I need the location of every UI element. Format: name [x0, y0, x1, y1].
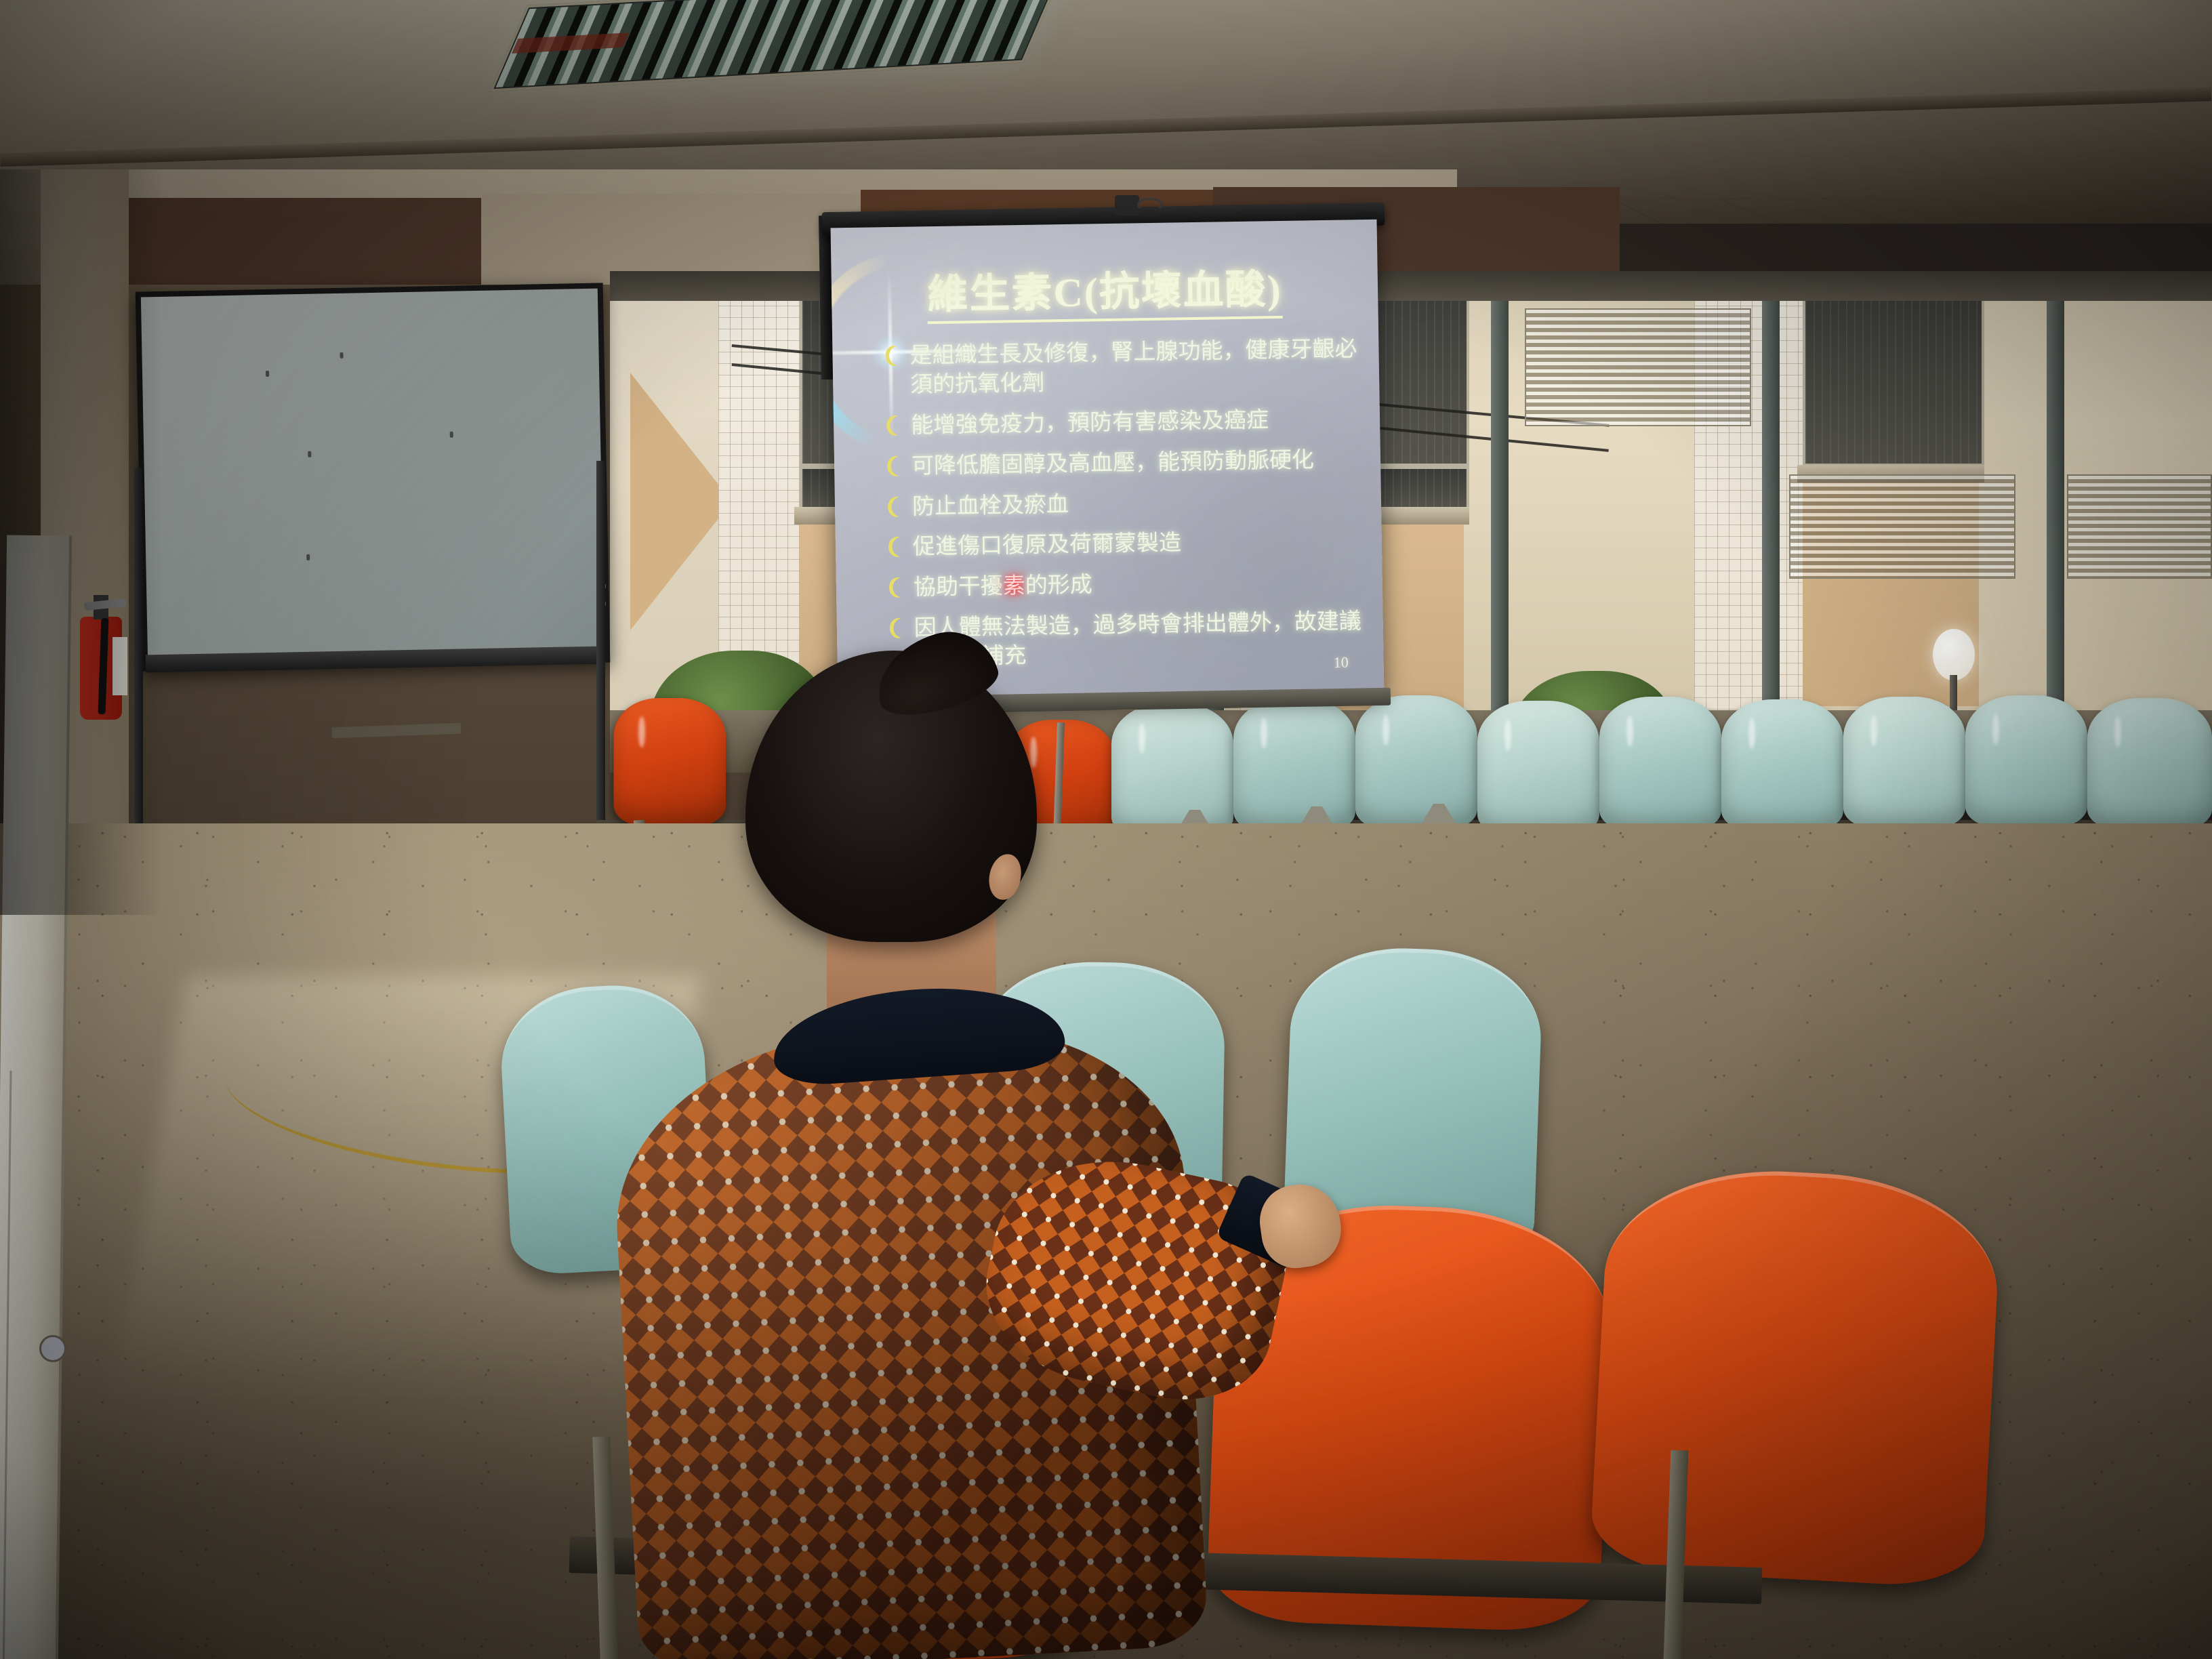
whiteboard-smudge	[308, 451, 311, 457]
window-blind-b	[1789, 474, 2015, 579]
window-mullion-4	[1762, 271, 1780, 773]
bullet-text: 防止血栓及瘀血	[912, 486, 1363, 522]
lamp-globe	[1933, 629, 1975, 680]
crescent-moon-icon	[885, 346, 903, 366]
whiteboard-smudge	[340, 352, 343, 359]
seat-back-teal-8[interactable]	[1965, 695, 2087, 828]
door-seam	[0, 1071, 12, 1659]
crescent-moon-icon	[887, 455, 905, 476]
screen-pull-knob[interactable]	[1115, 195, 1139, 216]
crescent-moon-icon	[886, 415, 904, 435]
bullet-text-highlight: 素	[1003, 574, 1026, 599]
seat-back-teal-9[interactable]	[2087, 698, 2212, 831]
slide-title: 維生素C(抗壞血酸)	[831, 255, 1378, 323]
slide-bullet-item: 促進傷口復原及荷爾蒙製造	[888, 527, 1364, 563]
door-lock-knob[interactable]	[39, 1335, 66, 1362]
bullet-text-mixed: 協助干擾素的形成	[914, 567, 1364, 602]
classroom-scene: 維生素C(抗壞血酸) 是組織生長及修復，腎上腺功能，健康牙齦必須的抗氧化劑 能增…	[0, 0, 2212, 1659]
bullet-text: 可降低膽固醇及高血壓，能預防動脈硬化	[912, 445, 1362, 481]
window-blind-c	[2067, 474, 2212, 579]
seat-back-teal-4[interactable]	[1477, 701, 1599, 836]
seat-back-teal-7[interactable]	[1843, 697, 1965, 829]
exterior-chevron-shape	[630, 373, 732, 630]
projection-screen: 維生素C(抗壞血酸) 是組織生長及修復，腎上腺功能，健康牙齦必須的抗氧化劑 能增…	[831, 220, 1385, 703]
seat-back-teal-5[interactable]	[1599, 697, 1721, 832]
slide-bullet-item: 是組織生長及修復，腎上腺功能，健康牙齦必須的抗氧化劑	[885, 335, 1360, 401]
whiteboard-smudge	[450, 432, 453, 438]
bullet-text: 是組織生長及修復，腎上腺功能，健康牙齦必須的抗氧化劑	[909, 335, 1360, 400]
exterior-window-d	[1803, 278, 1984, 466]
slide-title-text: 維生素C(抗壞血酸)	[927, 267, 1282, 324]
window-mullion-3	[1491, 271, 1509, 773]
slide-bullet-item: 能增強免疫力，預防有害感染及癌症	[886, 405, 1361, 441]
slide-bullet-item-highlighted: 協助干擾素的形成	[889, 567, 1364, 603]
seat-back-teal-6[interactable]	[1721, 699, 1843, 832]
bullet-text-pre: 協助干擾	[914, 575, 1004, 600]
bullet-text: 能增強免疫力，預防有害感染及癌症	[911, 405, 1361, 441]
bullet-text: 促進傷口復原及荷爾蒙製造	[913, 527, 1364, 562]
crescent-moon-icon	[889, 577, 907, 598]
fg-chair-orange-right[interactable]	[1589, 1162, 2003, 1589]
slide-content: 維生素C(抗壞血酸) 是組織生長及修復，腎上腺功能，健康牙齦必須的抗氧化劑 能增…	[831, 220, 1385, 703]
window-blind-a	[1525, 308, 1751, 426]
screen-knob-wire	[1137, 198, 1163, 211]
whiteboard-smudge	[306, 554, 310, 560]
seated-person	[583, 651, 1382, 1659]
whiteboard-smudge	[266, 371, 269, 377]
crescent-moon-icon	[888, 496, 905, 516]
slide-bullet-item: 防止血栓及瘀血	[888, 486, 1363, 523]
crescent-moon-icon	[890, 618, 907, 638]
whiteboard[interactable]	[136, 283, 611, 671]
fire-extinguisher-label	[112, 637, 127, 695]
whiteboard-surface[interactable]	[141, 289, 605, 666]
slide-bullet-item: 可降低膽固醇及高血壓，能預防動脈硬化	[887, 445, 1362, 482]
crescent-moon-icon	[888, 537, 906, 557]
whiteboard-leg-left	[134, 468, 143, 847]
bullet-text-post: 的形成	[1025, 573, 1093, 599]
